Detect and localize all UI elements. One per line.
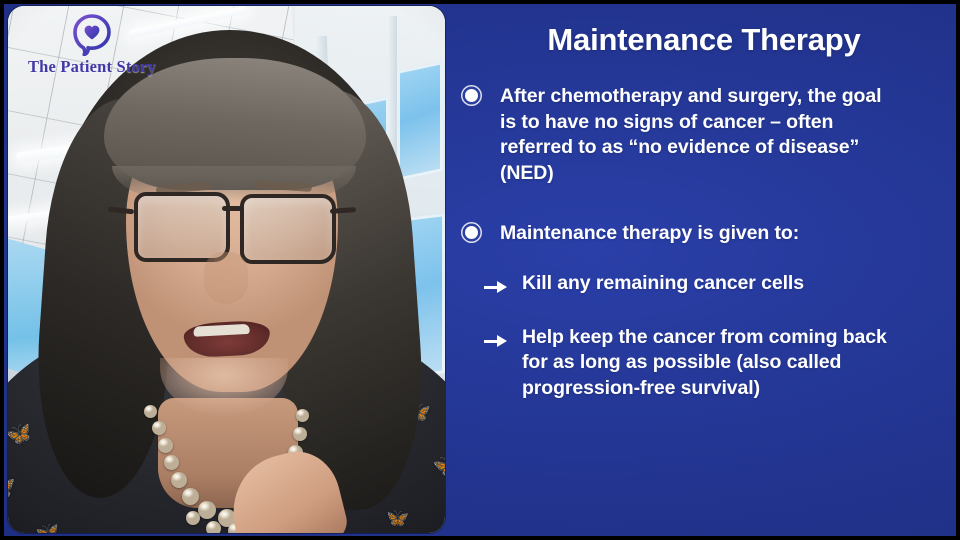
- bullet-marker-4: [484, 325, 522, 351]
- bullet-item-3: Kill any remaining cancer cells: [484, 271, 946, 297]
- ringed-dot-icon: [465, 89, 478, 102]
- arrow-right-icon: [484, 333, 510, 351]
- butterfly-print-1: 🦋: [8, 422, 34, 448]
- ringed-dot-icon: [465, 226, 478, 239]
- bullet-item-2: Maintenance therapy is given to:: [462, 221, 946, 247]
- frame-edge-bottom: [0, 536, 960, 540]
- speech-bubble-heart-icon: [72, 14, 112, 56]
- arrow-right-icon: [484, 279, 510, 297]
- speaker-video-panel[interactable]: 🦋 🦋 🦋 🦋 🦋 🦋 🦋: [8, 6, 445, 533]
- speaker-teeth: [193, 324, 249, 337]
- frame-edge-top: [0, 0, 960, 4]
- butterfly-print-5: 🦋: [432, 452, 445, 479]
- logo-wordmark: The Patient Story: [22, 57, 162, 77]
- bullet-marker-2: [462, 221, 500, 239]
- bullet-item-4: Help keep the cancer from coming back fo…: [484, 325, 946, 402]
- butterfly-print-6: 🦋: [384, 507, 410, 530]
- slide-content: Maintenance Therapy After chemotherapy a…: [462, 0, 946, 540]
- bullet-marker-3: [484, 271, 522, 297]
- eyeglass-lens-right: [240, 194, 336, 264]
- butterfly-print-2: 🦋: [8, 474, 16, 502]
- bullet-marker-1: [462, 84, 500, 102]
- bullet-text-3: Kill any remaining cancer cells: [522, 271, 804, 297]
- frame-edge-left: [0, 0, 4, 540]
- eyeglass-bridge: [222, 206, 242, 211]
- bullet-text-1: After chemotherapy and surgery, the goal…: [500, 84, 892, 187]
- bullet-text-4: Help keep the cancer from coming back fo…: [522, 325, 914, 402]
- eyeglass-lens-left: [134, 192, 230, 262]
- presentation-slide: 🦋 🦋 🦋 🦋 🦋 🦋 🦋: [0, 0, 960, 540]
- speaker-figure: 🦋 🦋 🦋 🦋 🦋 🦋 🦋: [8, 6, 445, 533]
- frame-edge-right: [956, 0, 960, 540]
- bullet-list: After chemotherapy and surgery, the goal…: [462, 84, 946, 402]
- bullet-item-1: After chemotherapy and surgery, the goal…: [462, 84, 946, 187]
- speaker-nose: [204, 252, 248, 304]
- slide-title: Maintenance Therapy: [462, 22, 946, 58]
- the-patient-story-logo[interactable]: The Patient Story: [22, 14, 162, 77]
- butterfly-print-3: 🦋: [35, 523, 60, 533]
- bullet-text-2: Maintenance therapy is given to:: [500, 221, 799, 247]
